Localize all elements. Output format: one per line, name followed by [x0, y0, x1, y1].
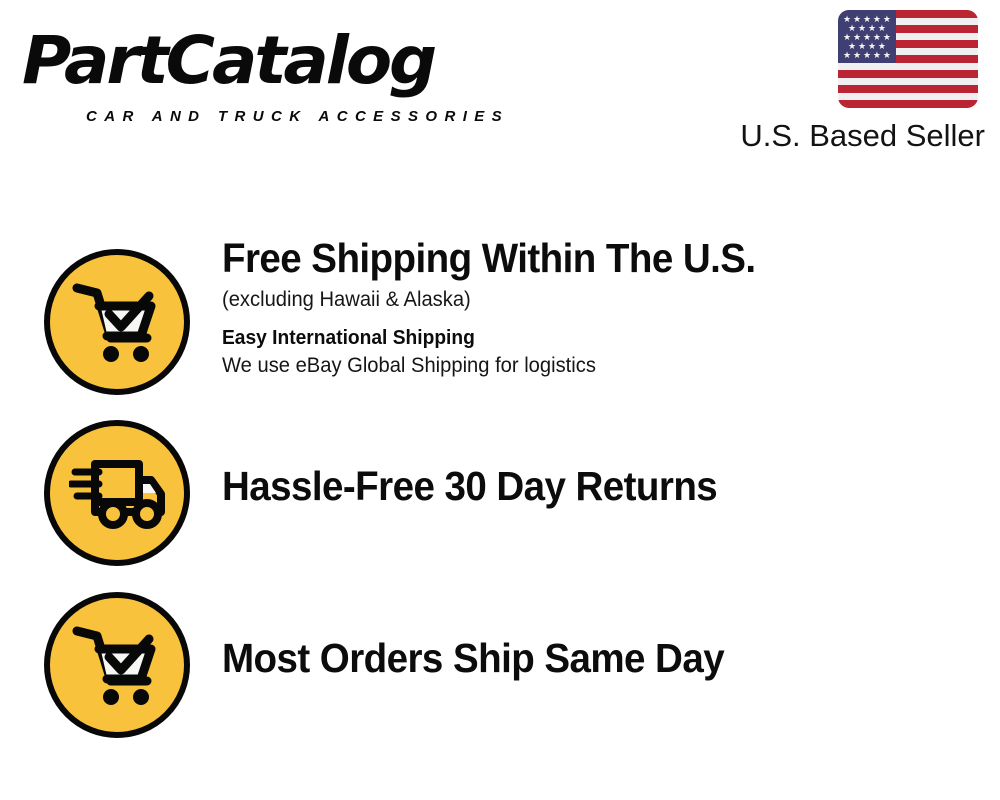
feature-title: Free Shipping Within The U.S. — [222, 237, 936, 280]
feature-text-free-shipping: Free Shipping Within The U.S. (excluding… — [222, 237, 982, 379]
brand-wordmark: PartCatalog — [22, 28, 434, 94]
feature-title: Hassle-Free 30 Day Returns — [222, 465, 936, 508]
feature-text-returns: Hassle-Free 30 Day Returns — [222, 465, 982, 508]
flag-star: ★ — [863, 51, 871, 60]
flag-star: ★ — [843, 51, 851, 60]
flag-star: ★ — [873, 51, 881, 60]
feature-title: Most Orders Ship Same Day — [222, 637, 936, 680]
brand-logo: PartCatalog CAR AND TRUCK ACCESSORIES — [22, 20, 502, 120]
shopping-cart-check-icon — [44, 592, 190, 738]
us-based-seller-label: U.S. Based Seller — [740, 118, 985, 154]
flag-canton: ★ ★ ★ ★ ★ ★ ★ ★ ★ ★ ★ ★ ★ ★ ★ ★ ★ ★ ★ ★ — [838, 10, 896, 63]
delivery-truck-icon — [44, 420, 190, 566]
feature-sub-note: We use eBay Global Shipping for logistic… — [222, 353, 952, 379]
flag-star: ★ — [883, 51, 891, 60]
feature-note: (excluding Hawaii & Alaska) — [222, 287, 952, 312]
brand-tagline: CAR AND TRUCK ACCESSORIES — [86, 108, 509, 125]
feature-text-same-day: Most Orders Ship Same Day — [222, 637, 982, 680]
feature-sub-title: Easy International Shipping — [222, 326, 952, 350]
us-flag-icon: ★ ★ ★ ★ ★ ★ ★ ★ ★ ★ ★ ★ ★ ★ ★ ★ ★ ★ ★ ★ — [838, 10, 978, 108]
flag-star: ★ — [853, 51, 861, 60]
shopping-cart-check-icon — [44, 249, 190, 395]
